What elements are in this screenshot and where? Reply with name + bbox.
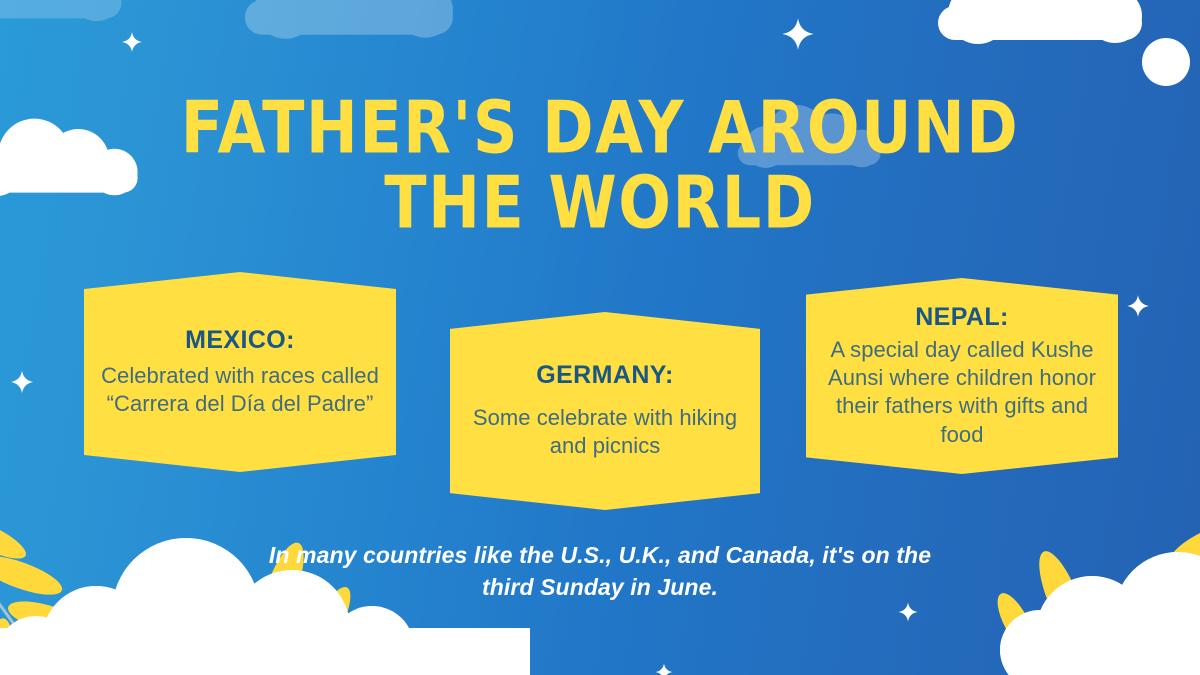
country-card-title: MEXICO: <box>185 326 295 355</box>
country-card-germany: GERMANY: Some celebrate with hiking and … <box>450 312 760 510</box>
country-card-title: GERMANY: <box>536 361 673 390</box>
footer-line-1: In many countries like the U.S., U.K., a… <box>0 540 1200 572</box>
country-card-nepal: NEPAL: A special day called Kushe Aunsi … <box>806 278 1118 474</box>
country-card-mexico: MEXICO: Celebrated with races called “Ca… <box>84 272 396 472</box>
footer-line-2: third Sunday in June. <box>0 572 1200 604</box>
country-card-body: A special day called Kushe Aunsi where c… <box>820 336 1104 449</box>
title-line-2: the World <box>0 167 1200 238</box>
poster: Father's Day Around the World MEXICO: Ce… <box>0 0 1200 675</box>
country-card-title: NEPAL: <box>915 303 1009 332</box>
country-card-body: Some celebrate with hiking and picnics <box>464 404 746 460</box>
country-card-body: Celebrated with races called “Carrera de… <box>98 362 382 418</box>
footer-note: In many countries like the U.S., U.K., a… <box>0 540 1200 603</box>
title-line-1: Father's Day Around <box>0 92 1200 163</box>
page-title: Father's Day Around the World <box>0 92 1200 229</box>
